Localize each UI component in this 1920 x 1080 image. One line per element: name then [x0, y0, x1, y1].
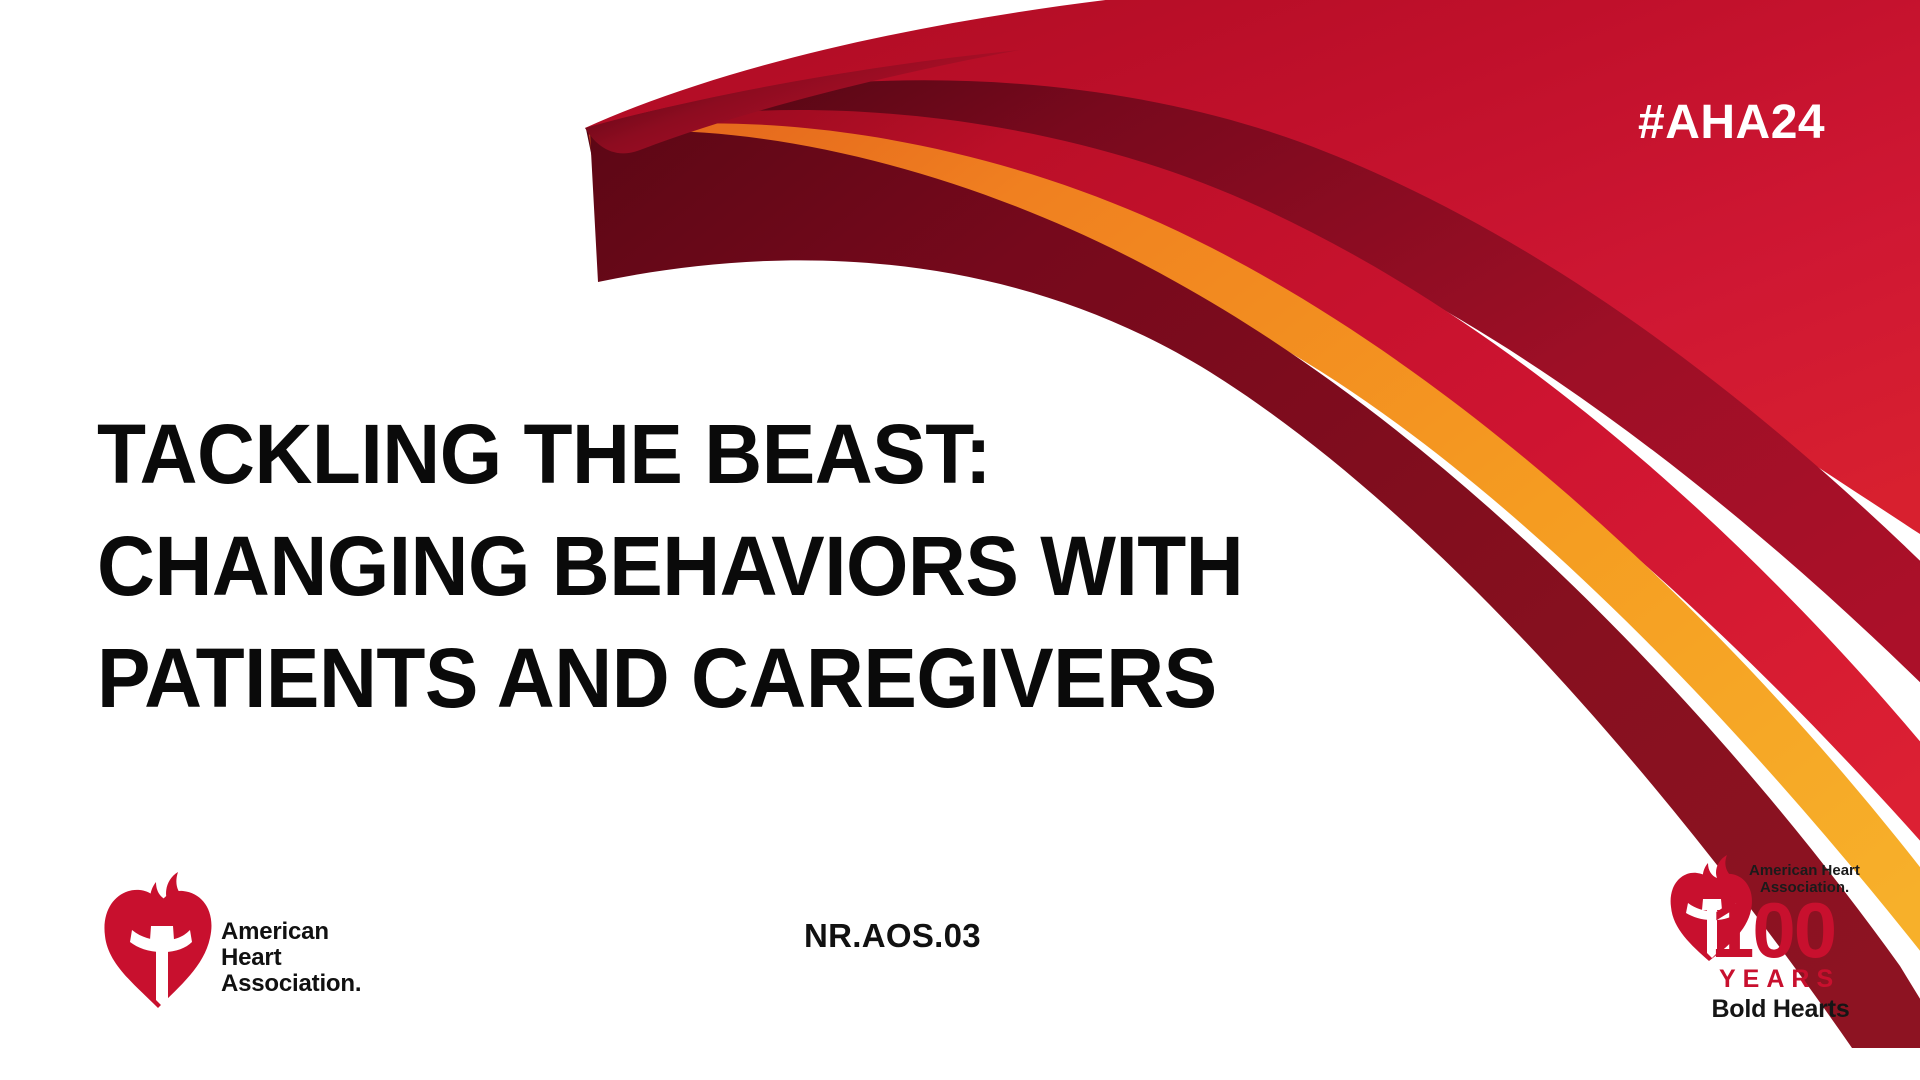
years-logo-tagline: Bold Hearts — [1663, 995, 1898, 1024]
slide-canvas: #AHA24 TACKLING THE BEAST: CHANGING BEHA… — [0, 0, 1920, 1080]
aha-wordmark-line-2: Heart — [221, 945, 361, 971]
aha-heart-torch-icon — [104, 872, 212, 1008]
american-heart-association-logo: American Heart Association. — [104, 872, 394, 1012]
years-logo-association-line-1: American Heart — [1749, 862, 1860, 879]
years-logo-years-label: YEARS — [1719, 965, 1840, 993]
title-line-1: TACKLING THE BEAST: — [97, 398, 1396, 510]
aha-wordmark-line-3: Association. — [221, 971, 361, 997]
aha-wordmark-line-1: American — [221, 919, 361, 945]
aha-wordmark: American Heart Association. — [221, 919, 361, 997]
aha-100-years-heart-torch-icon: American Heart Association. 100 YEARS — [1663, 845, 1898, 993]
event-hashtag: #AHA24 — [1638, 95, 1825, 150]
years-logo-number: 100 — [1711, 886, 1835, 974]
title-line-2: CHANGING BEHAVIORS WITH — [97, 510, 1396, 622]
ribbon-tip-accent — [585, 50, 1020, 153]
title-line-3: PATIENTS AND CAREGIVERS — [97, 622, 1396, 734]
aha-100-years-logo: American Heart Association. 100 YEARS Bo… — [1663, 845, 1898, 1035]
page-title: TACKLING THE BEAST: CHANGING BEHAVIORS W… — [97, 398, 1457, 734]
